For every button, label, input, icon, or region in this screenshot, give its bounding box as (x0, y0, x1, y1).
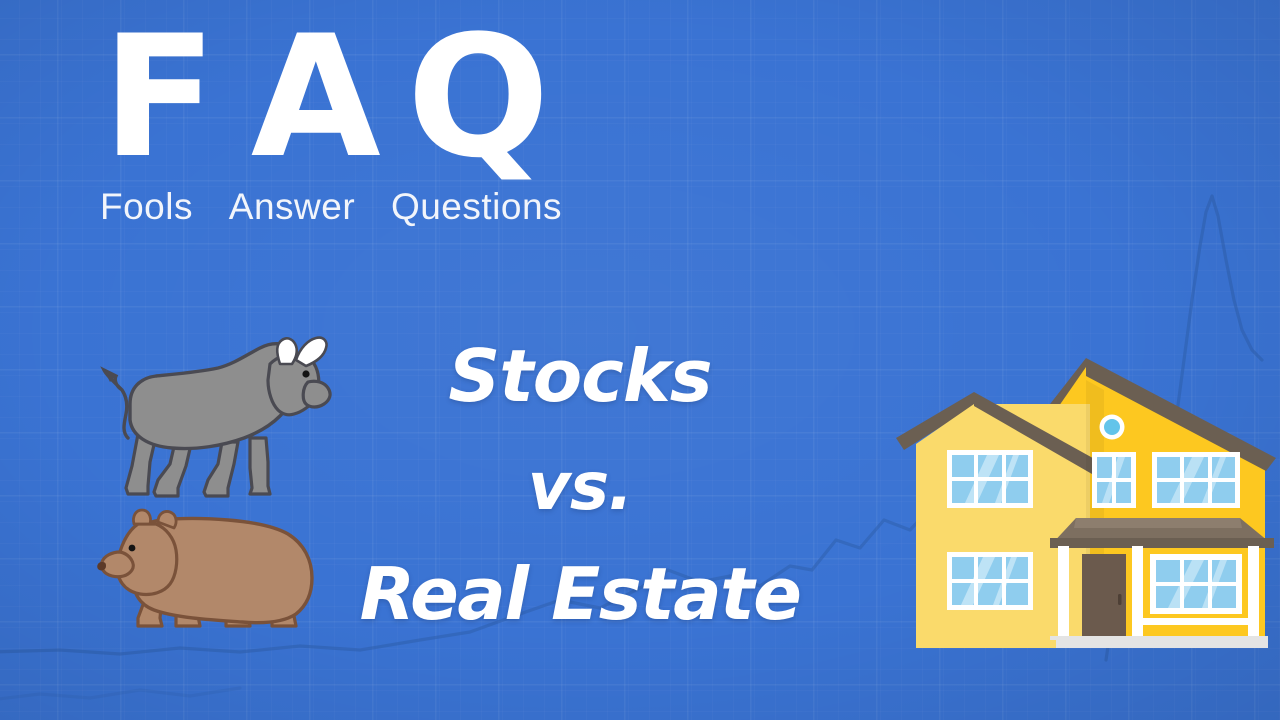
faq-expansion-word-questions: Questions (391, 186, 562, 228)
title-line-real-estate: Real Estate (200, 558, 960, 630)
title-line-stocks: Stocks (200, 340, 960, 412)
faq-expansion-word-fools: Fools (100, 186, 193, 228)
page-title: Stocks vs. Real Estate (200, 340, 960, 630)
bear-eye (129, 545, 136, 552)
faq-expansion: Fools Answer Questions (100, 186, 620, 228)
door-handle (1118, 594, 1122, 605)
faq-branding: F A Q Fools Answer Questions (100, 22, 620, 228)
title-line-vs: vs. (200, 454, 960, 520)
round-attic-window (1100, 415, 1125, 440)
window-porch (1150, 554, 1242, 614)
porch-rail (1143, 618, 1251, 625)
porch-post-mid (1132, 546, 1143, 636)
faq-acronym: F A Q (100, 22, 620, 172)
faq-video-thumbnail: F A Q Fools Answer Questions (0, 0, 1280, 720)
porch-post-left (1058, 546, 1069, 636)
window-main-upper-small (1092, 452, 1136, 508)
faq-letter-q: Q (407, 22, 550, 172)
window-main-upper-large (1152, 452, 1240, 508)
faq-letter-a: A (251, 22, 381, 172)
front-door (1082, 554, 1126, 638)
faq-expansion-word-answer: Answer (229, 186, 355, 228)
house-foundation (1050, 636, 1268, 648)
faq-letter-f: F (102, 22, 217, 172)
